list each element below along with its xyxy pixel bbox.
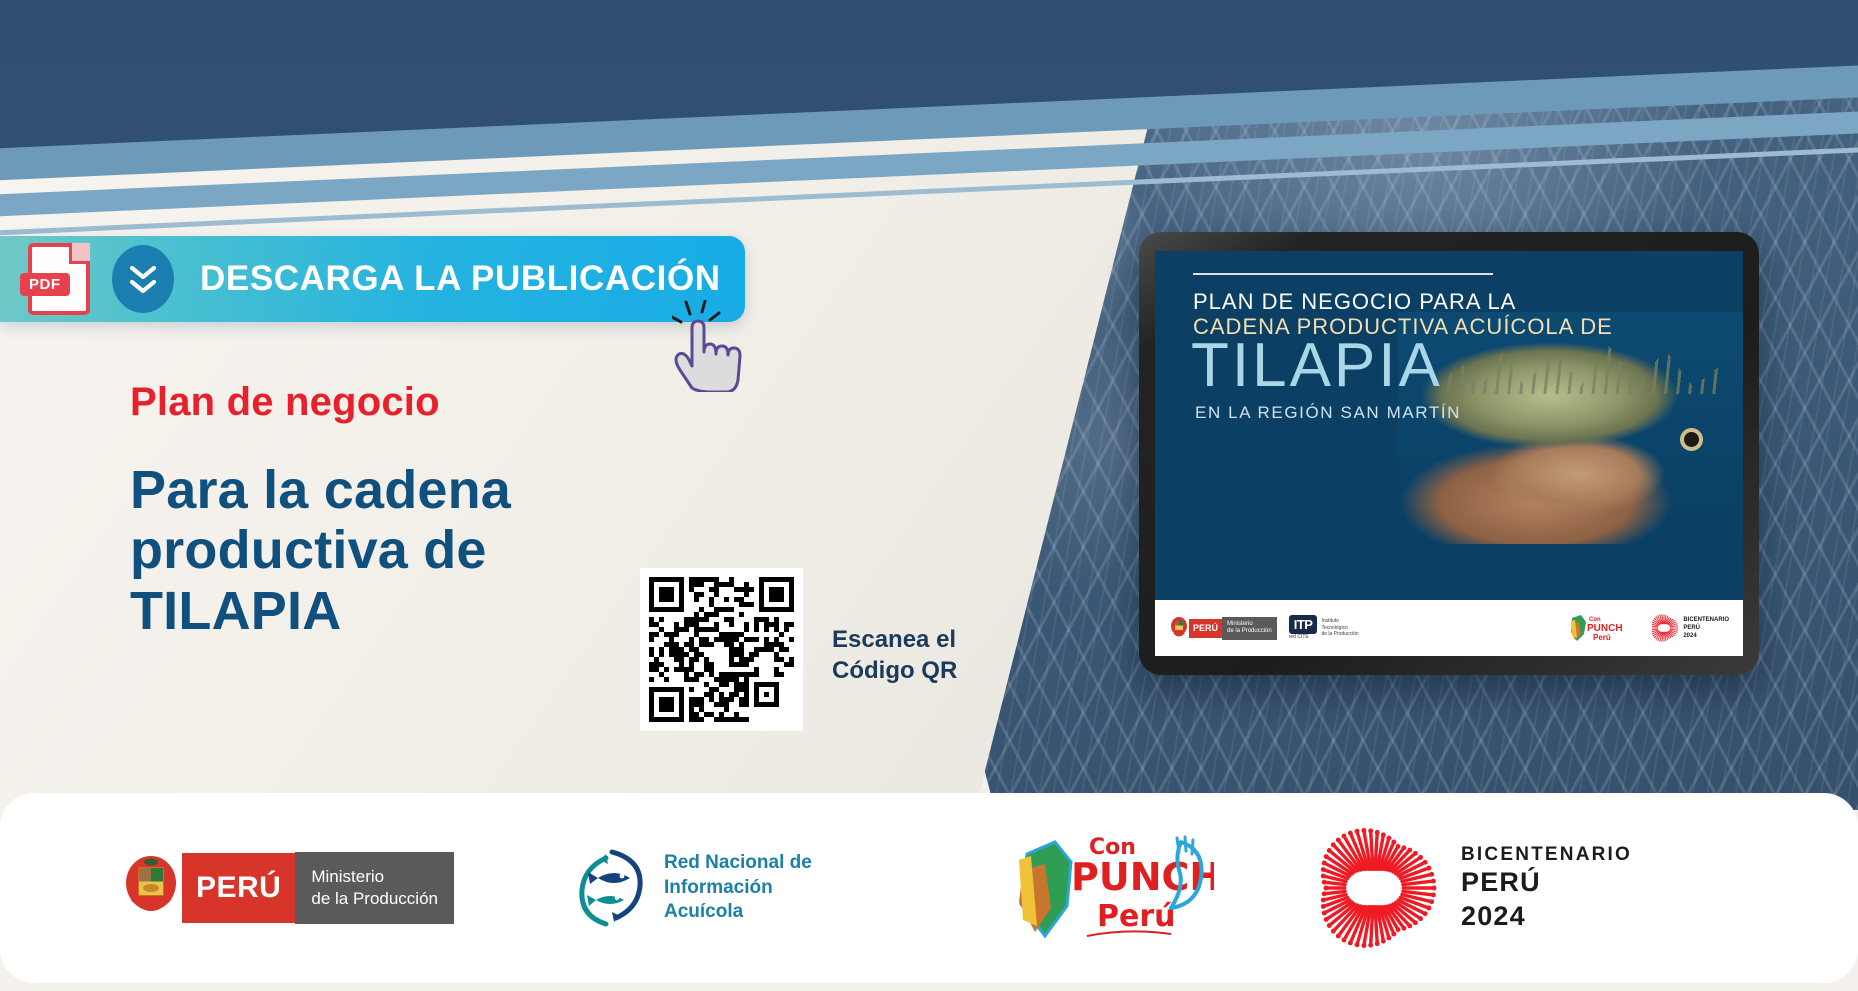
svg-text:Perú: Perú [1593,633,1611,642]
headline-line-1: Para la cadena [130,460,511,520]
con-punche-peru-logo: Con PUNCHE Perú [1009,828,1214,948]
peru-coat-of-arms-icon [120,851,182,925]
rnia-line-2: Acuícola [664,900,914,925]
pointing-hand-cursor-icon [672,300,748,392]
bicentenario-logo: BICENTENARIO PERÚ 2024 [1309,823,1632,953]
tablet-device-icon: PLAN DE NEGOCIO PARA LA CADENA PRODUCTIV… [1139,232,1759,675]
headline-line-2: productiva de [130,520,511,580]
cover-ministry-label: Ministerio de la Producción [1222,617,1277,640]
download-button-label: DESCARGA LA PUBLICACIÓN [200,259,721,299]
ministry-line-1: Ministerio [311,866,438,888]
cover-title: TILAPIA [1191,335,1443,397]
svg-text:PUNCHE: PUNCHE [1071,855,1214,899]
pdf-file-icon: PDF [28,243,90,315]
svg-text:Perú: Perú [1097,899,1176,934]
pdf-badge-label: PDF [20,273,70,296]
cover-peru-label: PERÚ [1189,619,1222,638]
page-kicker: Plan de negocio [130,380,440,425]
qr-label-line-2: Código QR [832,656,957,687]
cover-logo-strip: PERÚ Ministerio de la Producción ITP red… [1155,600,1743,656]
cover-artwork: PLAN DE NEGOCIO PARA LA CADENA PRODUCTIV… [1155,251,1743,600]
rnia-line-1: Red Nacional de Información [664,851,914,900]
cover-produce-logo: PERÚ Ministerio de la Producción [1169,615,1277,641]
cover-rule [1193,273,1493,275]
rnia-logo: Red Nacional de Información Acuícola [572,846,914,930]
page-title: Para la cadena productiva de TILAPIA [130,460,511,641]
cover-bicentenario-logo: BICENTENARIO PERÚ 2024 [1649,613,1729,643]
qr-label-line-1: Escanea el [832,625,957,656]
cover-con-punche-peru-logo: Con PUNCHE Perú [1569,612,1623,644]
itp-tag: red CITE [1289,634,1318,641]
publication-cover-preview[interactable]: PLAN DE NEGOCIO PARA LA CADENA PRODUCTIV… [1155,251,1743,656]
double-chevron-down-icon[interactable] [112,245,174,313]
download-publication-bar[interactable]: PDF DESCARGA LA PUBLICACIÓN [0,236,745,322]
bicentenario-label: BICENTENARIO PERÚ 2024 [1461,843,1632,933]
bicentenario-line-2: PERÚ [1461,866,1632,899]
download-publication-button[interactable]: PDF DESCARGA LA PUBLICACIÓN [0,236,745,322]
tilapia-photo [1398,312,1743,544]
rnia-label: Red Nacional de Información Acuícola [664,851,914,925]
ministry-line-2: de la Producción [311,888,438,910]
qr-instruction-label: Escanea el Código QR [832,625,957,686]
cover-subtitle: EN LA REGIÓN SAN MARTÍN [1195,403,1461,423]
bicentenario-line-3: 2024 [1461,900,1632,933]
produce-ministry-logo: PERÚ Ministerio de la Producción [120,851,454,925]
footer-logo-bar: PERÚ Ministerio de la Producción Red Nac [0,793,1858,983]
headline-line-3: TILAPIA [130,581,511,641]
cover-line-1: PLAN DE NEGOCIO PARA LA [1193,289,1613,316]
bicentenario-line-1: BICENTENARIO [1461,843,1632,867]
itp-subtitle: Instituto Tecnológico de la Producción [1321,618,1358,638]
red-radial-burst-heart-icon [1309,823,1439,953]
peru-label: PERÚ [182,853,295,923]
publication-download-banner: PDF DESCARGA LA PUBLICACIÓN Plan de nego… [0,0,1858,991]
two-fish-circle-icon [572,846,650,930]
ministry-label: Ministerio de la Producción [295,852,454,925]
qr-code-icon[interactable] [640,568,803,731]
itp-mark: ITP red CITE [1289,615,1318,641]
cover-itp-logo: ITP red CITE Instituto Tecnológico de la… [1289,615,1359,641]
